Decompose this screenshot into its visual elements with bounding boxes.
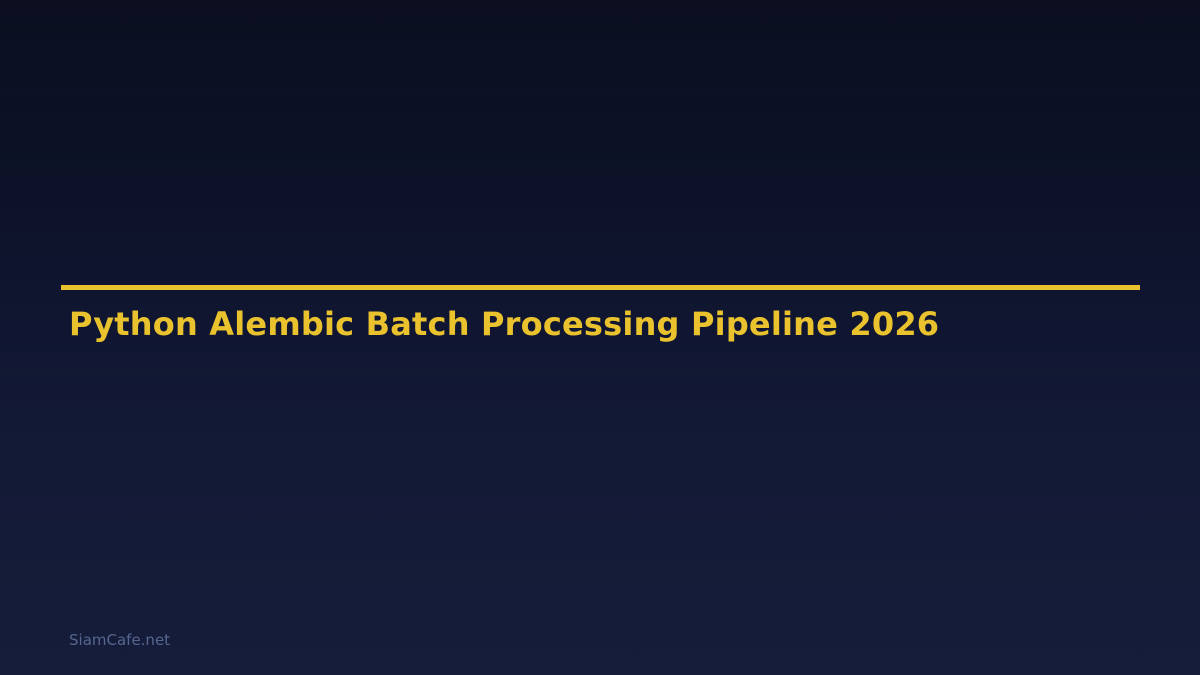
title-slide: Python Alembic Batch Processing Pipeline…: [0, 0, 1200, 675]
footer-brand-label: SiamCafe.net: [69, 630, 170, 650]
accent-rule-divider: [61, 285, 1140, 290]
page-title: Python Alembic Batch Processing Pipeline…: [69, 304, 939, 344]
